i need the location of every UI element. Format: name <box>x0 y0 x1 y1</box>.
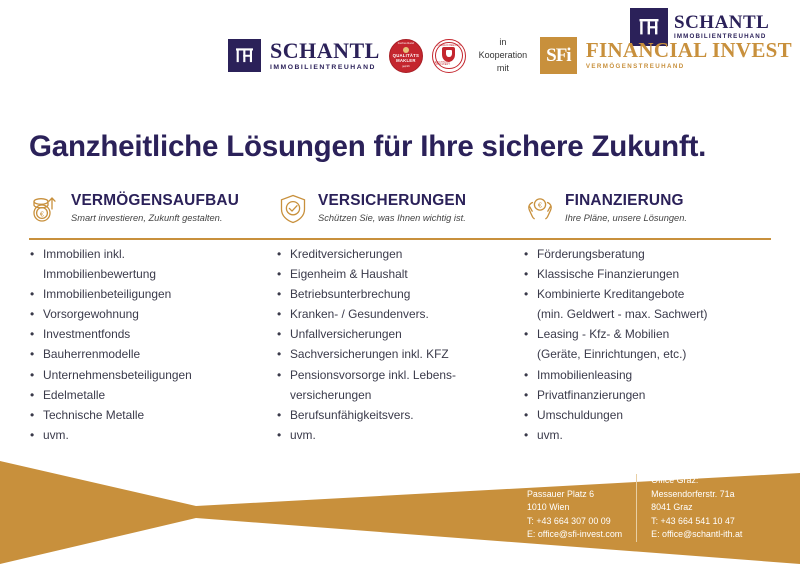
list-item-text: Leasing - Kfz- & Mobilien <box>537 327 669 341</box>
list-item-text: Betriebsunterbrechung <box>290 287 410 301</box>
list-item-text: Pensionsvorsorge inkl. Lebens- <box>290 368 456 382</box>
list-item-continuation: (Geräte, Einrichtungen, etc.) <box>537 349 762 361</box>
list-item-text: Berufsunfähigkeitsvers. <box>290 408 414 422</box>
list-item-text: Investmentfonds <box>43 327 130 341</box>
list-column-versicherungen: KreditversicherungenEigenheim & Haushalt… <box>276 249 523 450</box>
list-item: Investmentfonds <box>29 329 268 341</box>
list-item: Umschuldungen <box>523 410 762 422</box>
list-item: Immobilien inkl.Immobilienbewertung <box>29 249 268 281</box>
list-item: Kreditversicherungen <box>276 249 515 261</box>
office-wien-block: Office Wien: Passauer Platz 6 1010 Wien … <box>527 474 636 542</box>
partner-brand-tagline: VERMÖGENSTREUHAND <box>586 64 792 70</box>
partner-brand-name: FINANCIAL INVEST <box>586 40 792 61</box>
service-column-title: VERMÖGENSAUFBAU <box>71 193 239 210</box>
corner-brand-name: SCHANTL <box>674 13 769 32</box>
svg-text:€: € <box>538 201 543 210</box>
office-street: Passauer Platz 6 <box>527 488 622 502</box>
list-item-text: Privatfinanzierungen <box>537 388 645 402</box>
cooperation-note: in Kooperation mit <box>475 36 531 75</box>
coins-euro-growth-icon: € <box>29 192 63 226</box>
header-logo-bar: SCHANTL IMMOBILIENTREUHAND SCHANTL IMMOB… <box>0 0 800 110</box>
list-item: Privatfinanzierungen <box>523 390 762 402</box>
list-item-text: Immobilienbeteiligungen <box>43 287 171 301</box>
list-item: Edelmetalle <box>29 390 268 402</box>
list-item: Unfallversicherungen <box>276 329 515 341</box>
cooperation-line-1: in <box>475 36 531 49</box>
list-column-finanzierung: FörderungsberatungKlassische Finanzierun… <box>523 249 770 450</box>
list-item-text: Kombinierte Kreditangebote <box>537 287 684 301</box>
list-item: Berufsunfähigkeitsvers. <box>276 410 515 422</box>
list-item-text: Klassische Finanzierungen <box>537 267 679 281</box>
primary-brand-tagline: IMMOBILIENTREUHAND <box>270 65 380 72</box>
list-item-text: Eigenheim & Haushalt <box>290 267 408 281</box>
office-email[interactable]: E: office@schantl-ith.at <box>651 528 742 542</box>
list-item: Pensionsvorsorge inkl. Lebens-versicheru… <box>276 370 515 402</box>
list-item-text: Technische Metalle <box>43 408 144 422</box>
cooperation-line-2: Kooperation <box>475 49 531 62</box>
office-name: Office Wien: <box>527 474 622 488</box>
list-item-text: Umschuldungen <box>537 408 623 422</box>
partner-logo-cluster: SCHANTL IMMOBILIENTREUHAND Fachverband Q… <box>228 36 792 75</box>
service-column-vermoegensaufbau: € VERMÖGENSAUFBAU Smart investieren, Zuk… <box>29 188 276 230</box>
list-item-text: Immobilien inkl. <box>43 247 125 261</box>
list-item-text: Sachversicherungen inkl. KFZ <box>290 347 449 361</box>
section-divider <box>29 238 771 240</box>
list-item-continuation: Immobilienbewertung <box>43 269 268 281</box>
service-column-headers: € VERMÖGENSAUFBAU Smart investieren, Zuk… <box>29 188 771 230</box>
service-column-title: VERSICHERUNGEN <box>318 193 466 210</box>
qualitaetsmakler-seal-icon: Fachverband QUALITÄTS MAKLER geprüft <box>389 39 423 73</box>
office-phone[interactable]: T: +43 664 541 10 47 <box>651 515 742 529</box>
office-city: 1010 Wien <box>527 501 622 515</box>
office-street: Messendorferstr. 71a <box>651 488 742 502</box>
list-item-continuation: versicherungen <box>290 390 515 402</box>
office-phone[interactable]: T: +43 664 307 00 09 <box>527 515 622 529</box>
list-item: Eigenheim & Haushalt <box>276 269 515 281</box>
list-item: Immobilienleasing <box>523 370 762 382</box>
office-city: 8041 Graz <box>651 501 742 515</box>
austria-crest-seal-icon: ALLGEMEIN BEEIDETER GERICHTLICH ZERTIFIZ… <box>432 39 466 73</box>
list-item: Betriebsunterbrechung <box>276 289 515 301</box>
list-item: Kranken- / Gesundenvers. <box>276 309 515 321</box>
list-item: Unternehmensbeteiligungen <box>29 370 268 382</box>
list-item-text: Bauherrenmodelle <box>43 347 140 361</box>
list-item: Bauherrenmodelle <box>29 349 268 361</box>
list-item-text: Kreditversicherungen <box>290 247 402 261</box>
sfi-monogram-icon: SFi <box>540 37 577 74</box>
list-item: Klassische Finanzierungen <box>523 269 762 281</box>
seal-line-2: MAKLER <box>396 59 416 64</box>
list-item-text: Unternehmensbeteiligungen <box>43 368 192 382</box>
list-item-text: Edelmetalle <box>43 388 105 402</box>
service-column-subtitle: Smart investieren, Zukunft gestalten. <box>71 212 239 224</box>
list-item: Förderungsberatung <box>523 249 762 261</box>
hands-holding-coin-icon: € <box>523 192 557 226</box>
seal-bottom-text: geprüft <box>402 65 409 68</box>
list-item: Sachversicherungen inkl. KFZ <box>276 349 515 361</box>
list-item-text: Förderungsberatung <box>537 247 645 261</box>
primary-brand-wordmark: SCHANTL IMMOBILIENTREUHAND <box>270 40 380 72</box>
service-column-subtitle: Ihre Pläne, unsere Lösungen. <box>565 212 687 224</box>
list-item: Kombinierte Kreditangebote(min. Geldwert… <box>523 289 762 321</box>
office-email[interactable]: E: office@sfi-invest.com <box>527 528 622 542</box>
flyer-page: SCHANTL IMMOBILIENTREUHAND SCHANTL IMMOB… <box>0 0 800 564</box>
bullet-list: KreditversicherungenEigenheim & Haushalt… <box>276 249 515 442</box>
list-item-text: Vorsorgewohnung <box>43 307 139 321</box>
list-item-text: Unfallversicherungen <box>290 327 402 341</box>
shield-check-icon <box>276 192 310 226</box>
service-column-finanzierung: € FINANZIERUNG Ihre Pläne, unsere Lösung… <box>523 188 770 230</box>
cooperation-line-3: mit <box>475 62 531 75</box>
service-column-versicherungen: VERSICHERUNGEN Schützen Sie, was Ihnen w… <box>276 188 523 230</box>
primary-brand-name: SCHANTL <box>270 40 380 62</box>
footer-contacts: Office Wien: Passauer Platz 6 1010 Wien … <box>527 474 742 542</box>
list-item: Leasing - Kfz- & Mobilien(Geräte, Einric… <box>523 329 762 361</box>
list-item-continuation: (min. Geldwert - max. Sachwert) <box>537 309 762 321</box>
list-item-text: Immobilienleasing <box>537 368 632 382</box>
service-lists: Immobilien inkl.ImmobilienbewertungImmob… <box>29 249 771 450</box>
bullet-list: FörderungsberatungKlassische Finanzierun… <box>523 249 762 442</box>
list-item-text: Kranken- / Gesundenvers. <box>290 307 429 321</box>
list-column-vermoegensaufbau: Immobilien inkl.ImmobilienbewertungImmob… <box>29 249 276 450</box>
partner-brand-wordmark: FINANCIAL INVEST VERMÖGENSTREUHAND <box>586 40 792 70</box>
service-column-subtitle: Schützen Sie, was Ihnen wichtig ist. <box>318 212 466 224</box>
list-item: Technische Metalle <box>29 410 268 422</box>
list-item: Vorsorgewohnung <box>29 309 268 321</box>
office-name: Office Graz: <box>651 474 742 488</box>
seal-top-text: Fachverband <box>398 43 414 46</box>
svg-text:€: € <box>40 209 45 218</box>
page-headline: Ganzheitliche Lösungen für Ihre sichere … <box>29 130 706 164</box>
bullet-list: Immobilien inkl.ImmobilienbewertungImmob… <box>29 249 268 442</box>
list-item: Immobilienbeteiligungen <box>29 289 268 301</box>
office-graz-block: Office Graz: Messendorferstr. 71a 8041 G… <box>636 474 742 542</box>
ith-monogram-icon <box>228 39 261 72</box>
service-column-title: FINANZIERUNG <box>565 193 687 210</box>
